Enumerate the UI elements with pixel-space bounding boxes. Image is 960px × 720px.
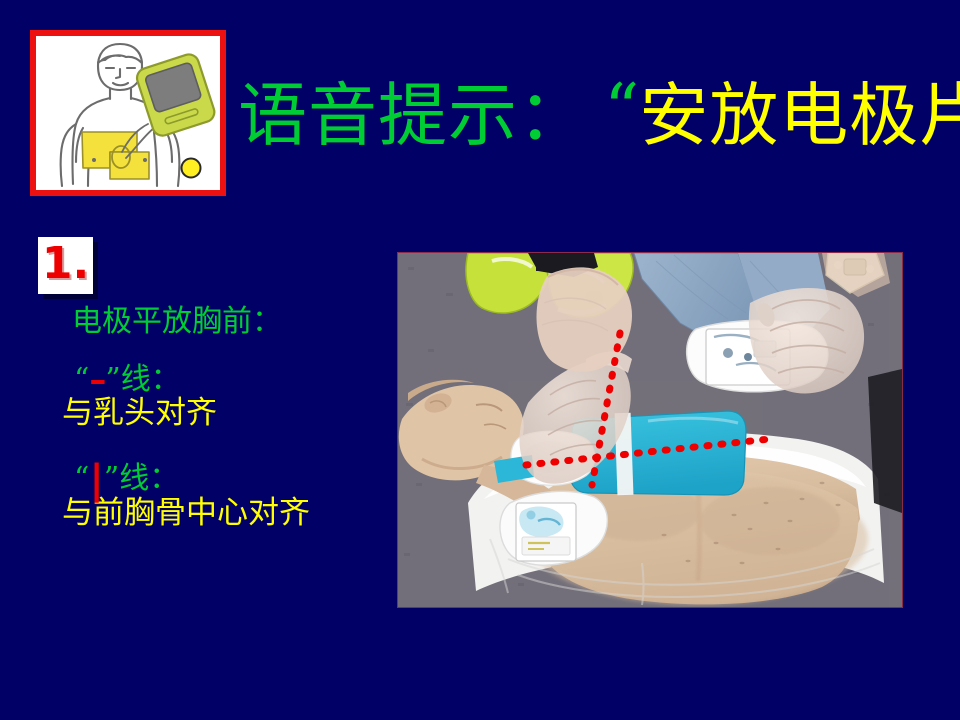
quote-open-icon: “ <box>74 461 89 496</box>
title-quote-open: “ <box>604 76 639 145</box>
aed-pad-placement-pictogram <box>30 30 226 196</box>
aed-pad-placement-photo <box>397 252 903 608</box>
instruction-list: 电极平放胸前： “–”线： 与乳头对齐 “|”线： 与前胸骨中心对齐 <box>60 306 400 554</box>
instruction-heading: 电极平放胸前： <box>60 306 400 338</box>
step-number-label: 1. <box>38 237 93 294</box>
quote-close-icon: ” <box>104 461 119 496</box>
slide-canvas: 语音提示： “ 安放电极片 ” 1. 电极平放胸前： “–”线： 与乳头对齐 “… <box>0 0 960 720</box>
voice-prompt-label: 语音提示： <box>238 82 588 151</box>
horizontal-line-label: 线： <box>121 362 181 397</box>
quote-close-icon: ” <box>105 362 120 397</box>
horizontal-line-mark: – <box>89 360 105 400</box>
instruction-item-vertical-label: “|”线： <box>60 454 400 496</box>
instruction-item-horizontal-detail: 与乳头对齐 <box>60 397 400 430</box>
instruction-item-horizontal-label: “–”线： <box>60 360 400 396</box>
slide-title: 语音提示： “ 安放电极片 ” <box>238 62 954 170</box>
vertical-line-label: 线： <box>119 461 179 496</box>
instruction-item-vertical-detail: 与前胸骨中心对齐 <box>60 497 400 530</box>
step-number-badge: 1. <box>38 237 93 294</box>
voice-prompt-text: 安放电极片 <box>639 82 960 151</box>
vertical-line-mark: | <box>89 456 104 503</box>
quote-open-icon: “ <box>74 362 89 397</box>
